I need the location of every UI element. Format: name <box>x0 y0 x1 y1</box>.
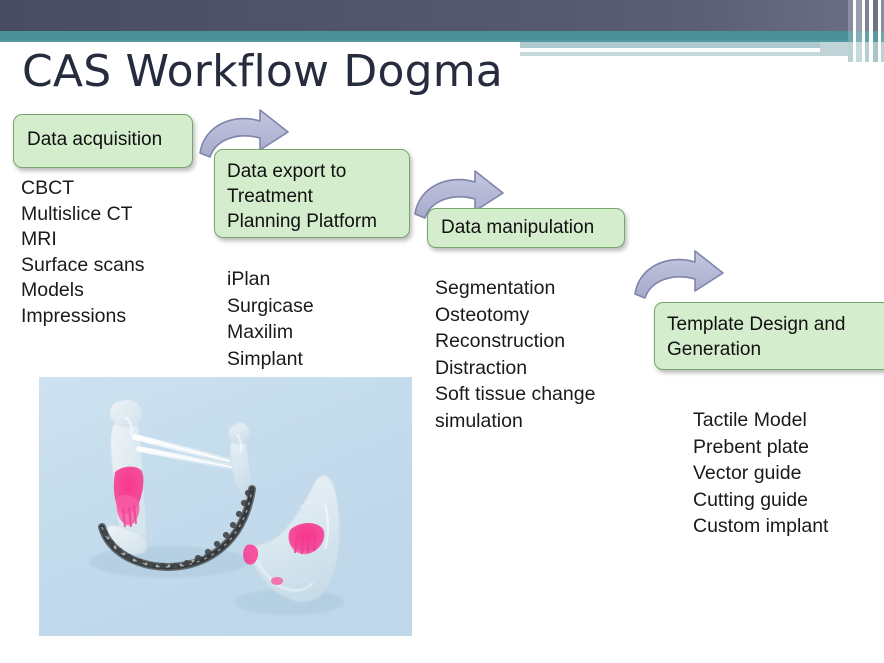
list-item: iPlan <box>227 266 314 293</box>
stage-list-data-acquisition: CBCT Multislice CT MRI Surface scans Mod… <box>21 176 145 329</box>
stage-box-label: Data acquisition <box>27 129 162 151</box>
list-item: Soft tissue change <box>435 381 595 408</box>
stage-box-data-acquisition[interactable]: Data acquisition <box>13 114 193 168</box>
curved-right-arrow-icon <box>629 246 729 306</box>
stage-box-label-line: Template Design and <box>667 312 846 337</box>
stage-list-template-design: Tactile Model Prebent plate Vector guide… <box>693 407 828 540</box>
list-item: Surface scans <box>21 253 145 279</box>
list-item: simulation <box>435 408 595 435</box>
stage-box-label: Data manipulation <box>441 217 594 239</box>
list-item: Segmentation <box>435 275 595 302</box>
list-item: Reconstruction <box>435 328 595 355</box>
arrow-3 <box>629 246 729 306</box>
list-item: Maxilim <box>227 319 314 346</box>
list-item: Cutting guide <box>693 487 828 514</box>
list-item: MRI <box>21 227 145 253</box>
list-item: Vector guide <box>693 460 828 487</box>
stage-box-data-manipulation[interactable]: Data manipulation <box>427 208 625 248</box>
list-item: Models <box>21 278 145 304</box>
list-item: Distraction <box>435 355 595 382</box>
stage-list-data-export: iPlan Surgicase Maxilim Simplant <box>227 266 314 372</box>
list-item: Multislice CT <box>21 202 145 228</box>
stage-box-label-line: Generation <box>667 337 846 362</box>
list-item: Prebent plate <box>693 434 828 461</box>
list-item: Tactile Model <box>693 407 828 434</box>
list-item: CBCT <box>21 176 145 202</box>
mandible-model-photo <box>39 377 412 636</box>
page-title: CAS Workflow Dogma <box>22 48 503 96</box>
stage-box-data-export[interactable]: Data export to Treatment Planning Platfo… <box>214 149 410 238</box>
list-item: Custom implant <box>693 513 828 540</box>
stage-box-template-design[interactable]: Template Design and Generation <box>654 302 884 370</box>
stage-box-label-line: Treatment <box>227 184 377 209</box>
banner-dark-band <box>0 0 884 31</box>
stage-box-label-line: Planning Platform <box>227 209 377 234</box>
list-item: Surgicase <box>227 293 314 320</box>
stage-list-data-manipulation: Segmentation Osteotomy Reconstruction Di… <box>435 275 595 434</box>
list-item: Simplant <box>227 346 314 373</box>
list-item: Impressions <box>21 304 145 330</box>
stage-box-label-line: Data export to <box>227 159 377 184</box>
photo-content <box>39 377 412 636</box>
list-item: Osteotomy <box>435 302 595 329</box>
